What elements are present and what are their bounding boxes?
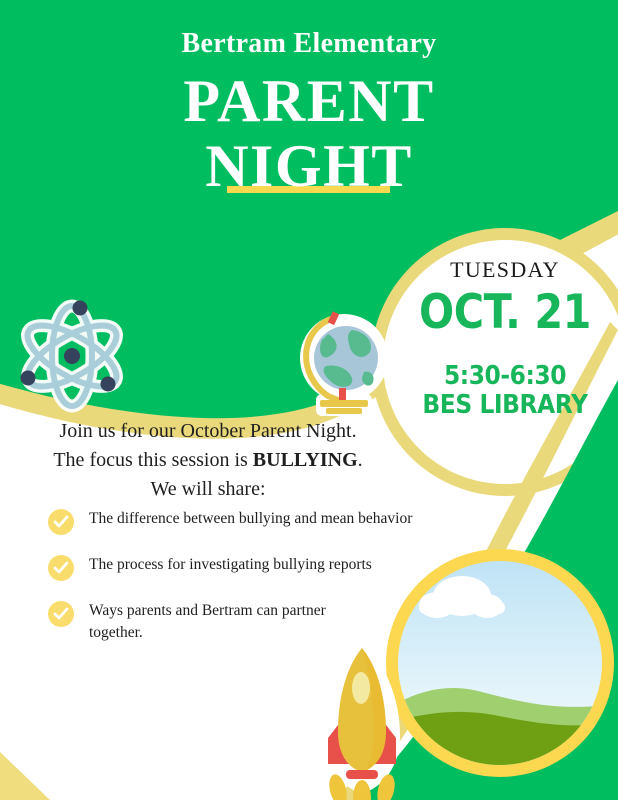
list-item: The difference between bullying and mean… [48, 508, 468, 535]
list-item: The process for investigating bullying r… [48, 554, 468, 581]
list-item-label: Ways parents and Bertram can partner tog… [89, 600, 339, 645]
atom-electron [101, 377, 116, 392]
check-circle-icon [48, 509, 74, 535]
atom-nucleus [64, 348, 80, 364]
topics-list: The difference between bullying and mean… [48, 508, 468, 664]
event-details-card: TUESDAY OCT. 21 5:30-6:30 BES LIBRARY [398, 258, 612, 420]
intro-line-3: We will share: [30, 475, 386, 504]
event-weekday: TUESDAY [398, 258, 612, 282]
page-title-line-1: PARENT [0, 60, 618, 133]
check-circle-icon [48, 555, 74, 581]
intro-paragraph: Join us for our October Parent Night. Th… [30, 417, 386, 504]
intro-line-1: Join us for our October Parent Night. [30, 417, 386, 446]
event-location: BES LIBRARY [409, 391, 602, 420]
event-date: OCT. 21 [411, 288, 599, 337]
intro-line-2-prefix: The focus this session is [53, 449, 252, 471]
list-item: Ways parents and Bertram can partner tog… [48, 600, 468, 645]
rocket-window [352, 672, 370, 704]
page-title-line-2: NIGHT [0, 133, 618, 198]
list-item-label: The difference between bullying and mean… [89, 508, 412, 530]
event-time: 5:30-6:30 [409, 362, 602, 391]
intro-line-2-suffix: . [358, 449, 363, 471]
school-name: Bertram Elementary [0, 0, 618, 60]
parent-night-flyer: Bertram Elementary PARENT NIGHT TUESDAY … [0, 0, 618, 800]
list-item-label: The process for investigating bullying r… [89, 554, 372, 576]
intro-line-2: The focus this session is BULLYING. [30, 446, 386, 475]
intro-emphasis-bullying: BULLYING [253, 449, 358, 471]
flyer-header: Bertram Elementary PARENT NIGHT [0, 0, 618, 198]
check-circle-icon [48, 601, 74, 627]
atom-electron [73, 301, 88, 316]
atom-electron [21, 371, 36, 386]
